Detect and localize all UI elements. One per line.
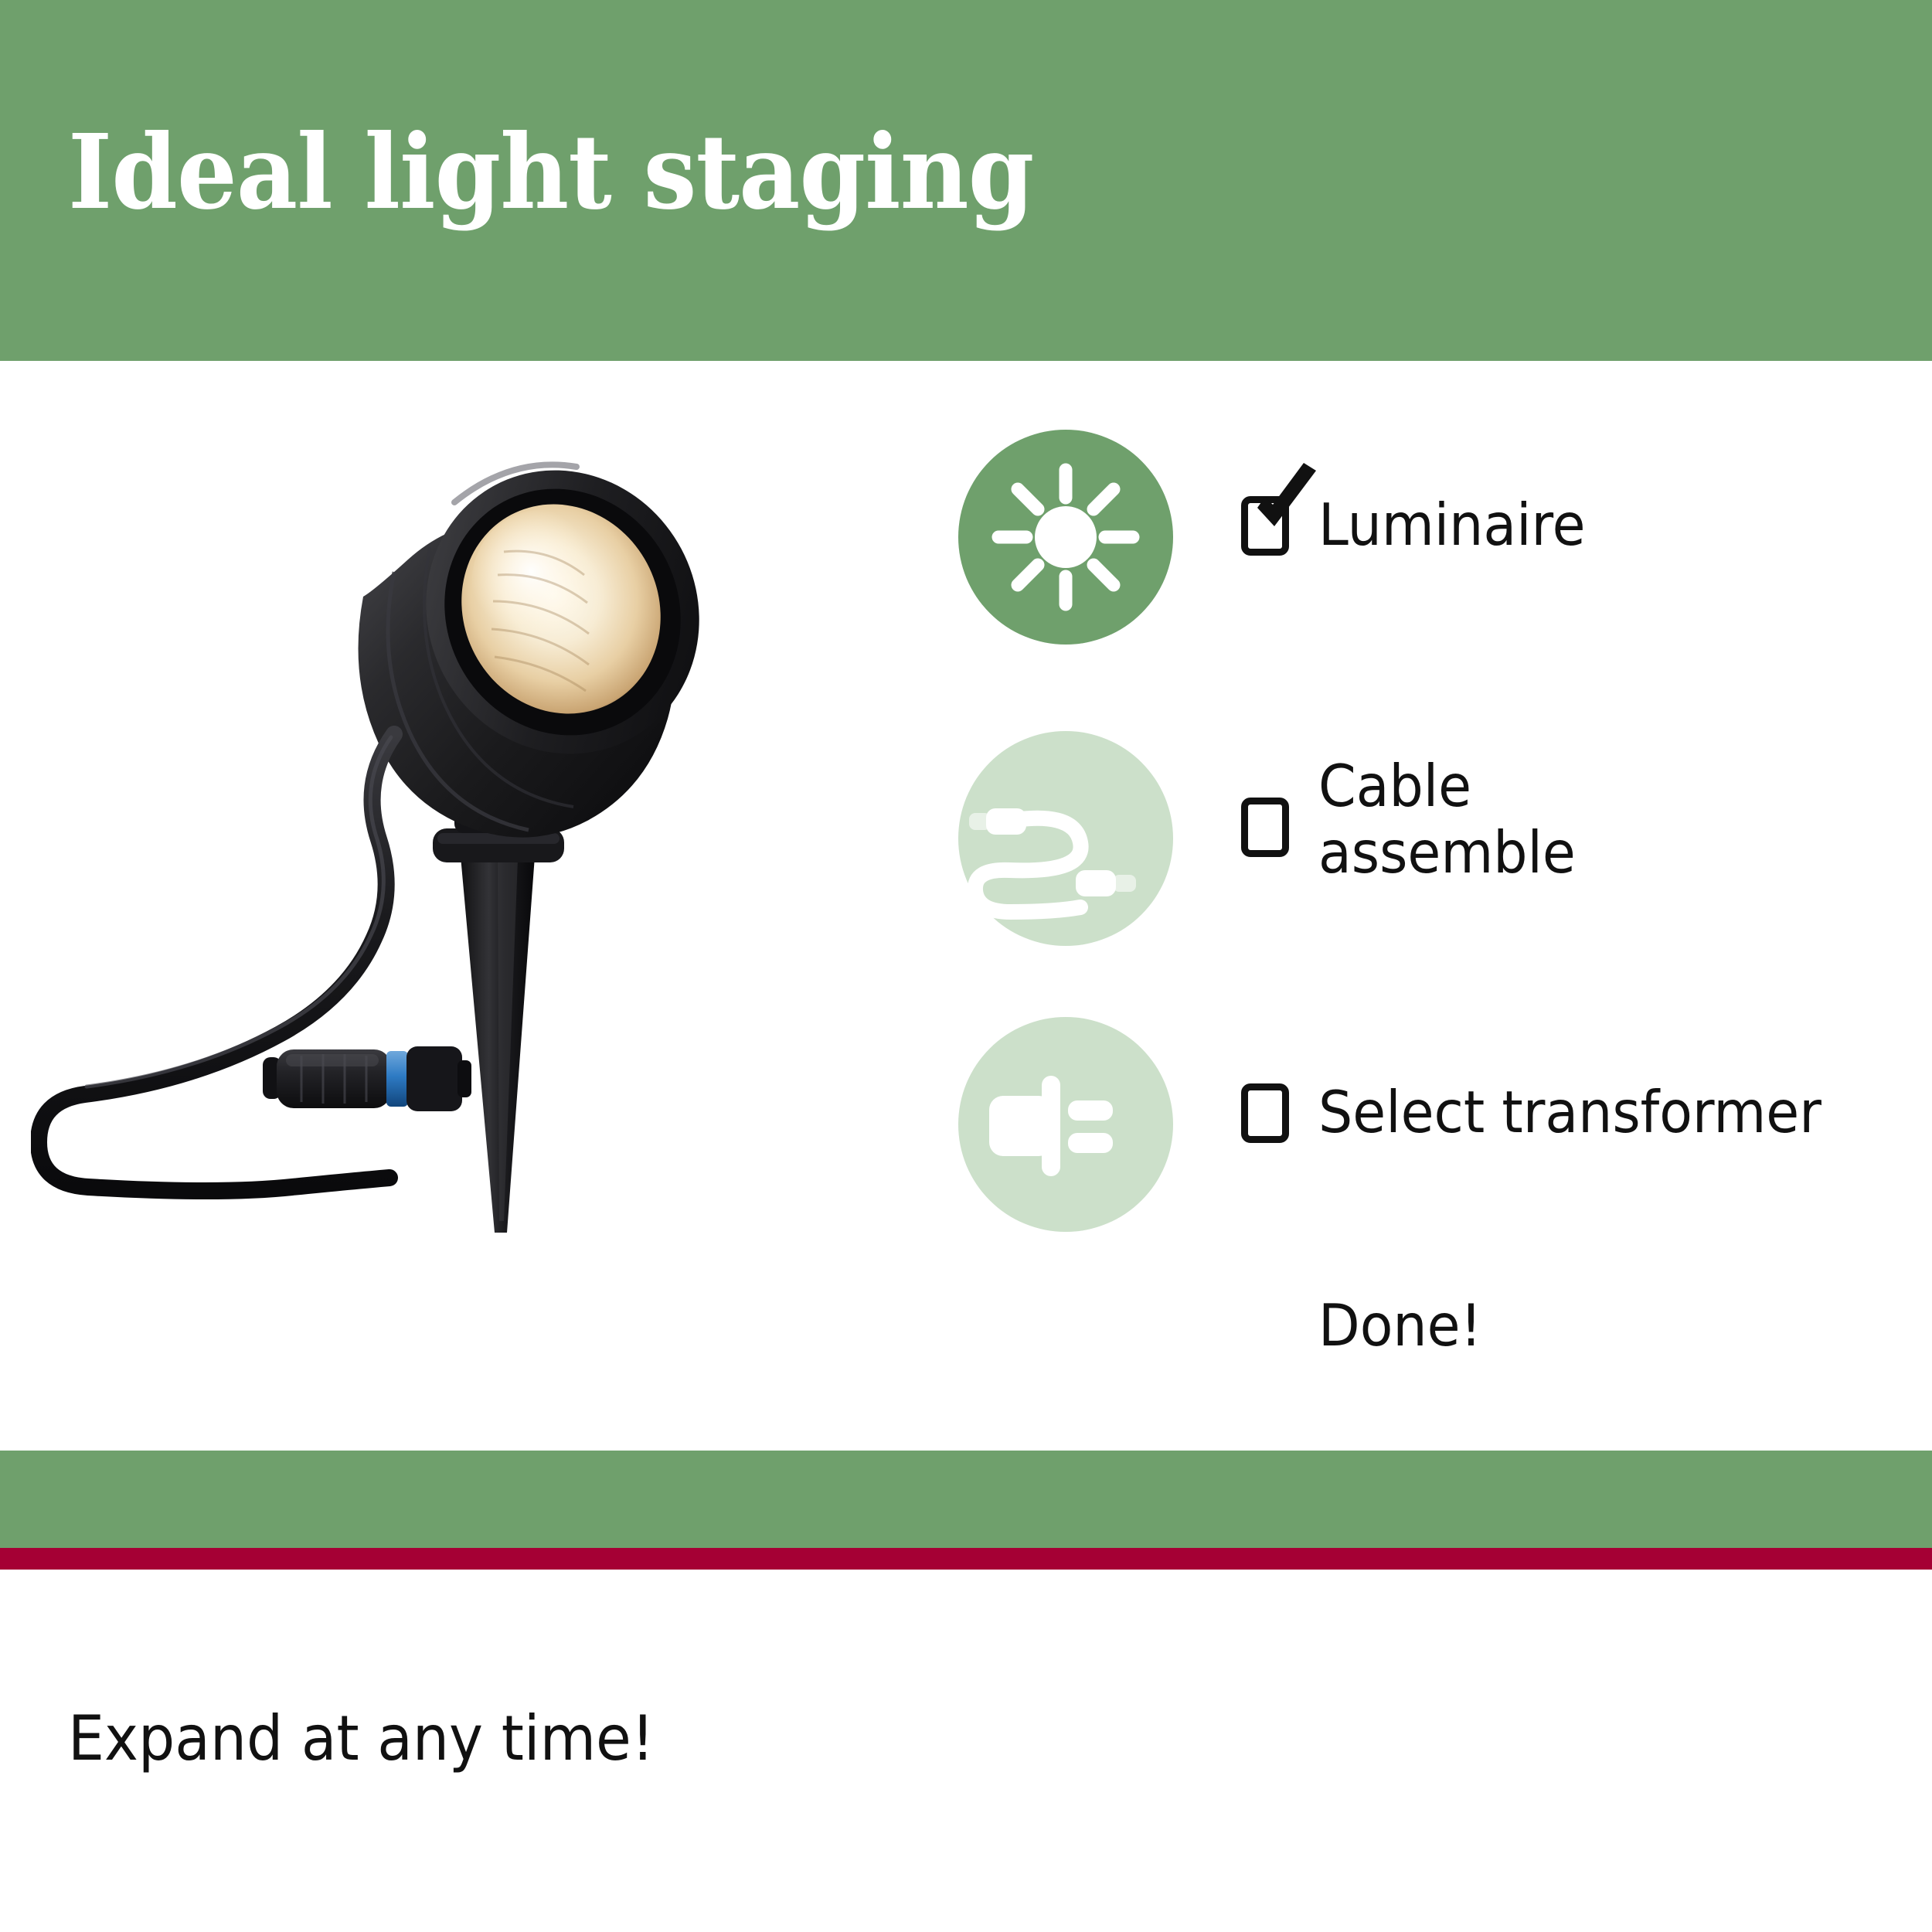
checkbox-luminaire[interactable] [1241,496,1289,556]
footer-note: Expand at any time! [68,1703,655,1774]
checkbox-select-transformer[interactable] [1241,1083,1289,1143]
checklist-label-cable-assemble: Cable assemble [1318,753,1576,886]
checklist-row-cable-assemble[interactable]: Cable assemble [958,731,1917,955]
cable-icon-circle [958,731,1173,946]
plug-icon [958,1017,1173,1232]
sun-icon [958,430,1173,645]
ground-spike-group [433,771,564,1233]
footer-red-band [0,1548,1932,1570]
checklist-row-luminaire[interactable]: Luminaire [958,430,1917,654]
checklist-label-luminaire: Luminaire [1318,492,1586,558]
cable-connector [263,1046,471,1111]
checkmark-icon [1243,460,1328,545]
checkbox-cable-assemble[interactable] [1241,798,1289,857]
product-illustration [31,386,943,1445]
luminaire-icon-circle [958,430,1173,645]
footer-green-band [0,1451,1932,1548]
product-photo-garden-spotlight [31,386,943,1445]
cable-icon [958,731,1173,946]
checklist-label-select-transformer: Select transformer [1318,1079,1821,1145]
checklist-row-select-transformer[interactable]: Select transformer [958,1017,1917,1241]
power-cable [39,734,394,1191]
transformer-icon-circle [958,1017,1173,1232]
spotlight-head-group [359,422,749,838]
done-note: Done! [1318,1292,1481,1359]
cable-highlight [87,737,391,1087]
page-title: Ideal light staging [68,114,1033,230]
